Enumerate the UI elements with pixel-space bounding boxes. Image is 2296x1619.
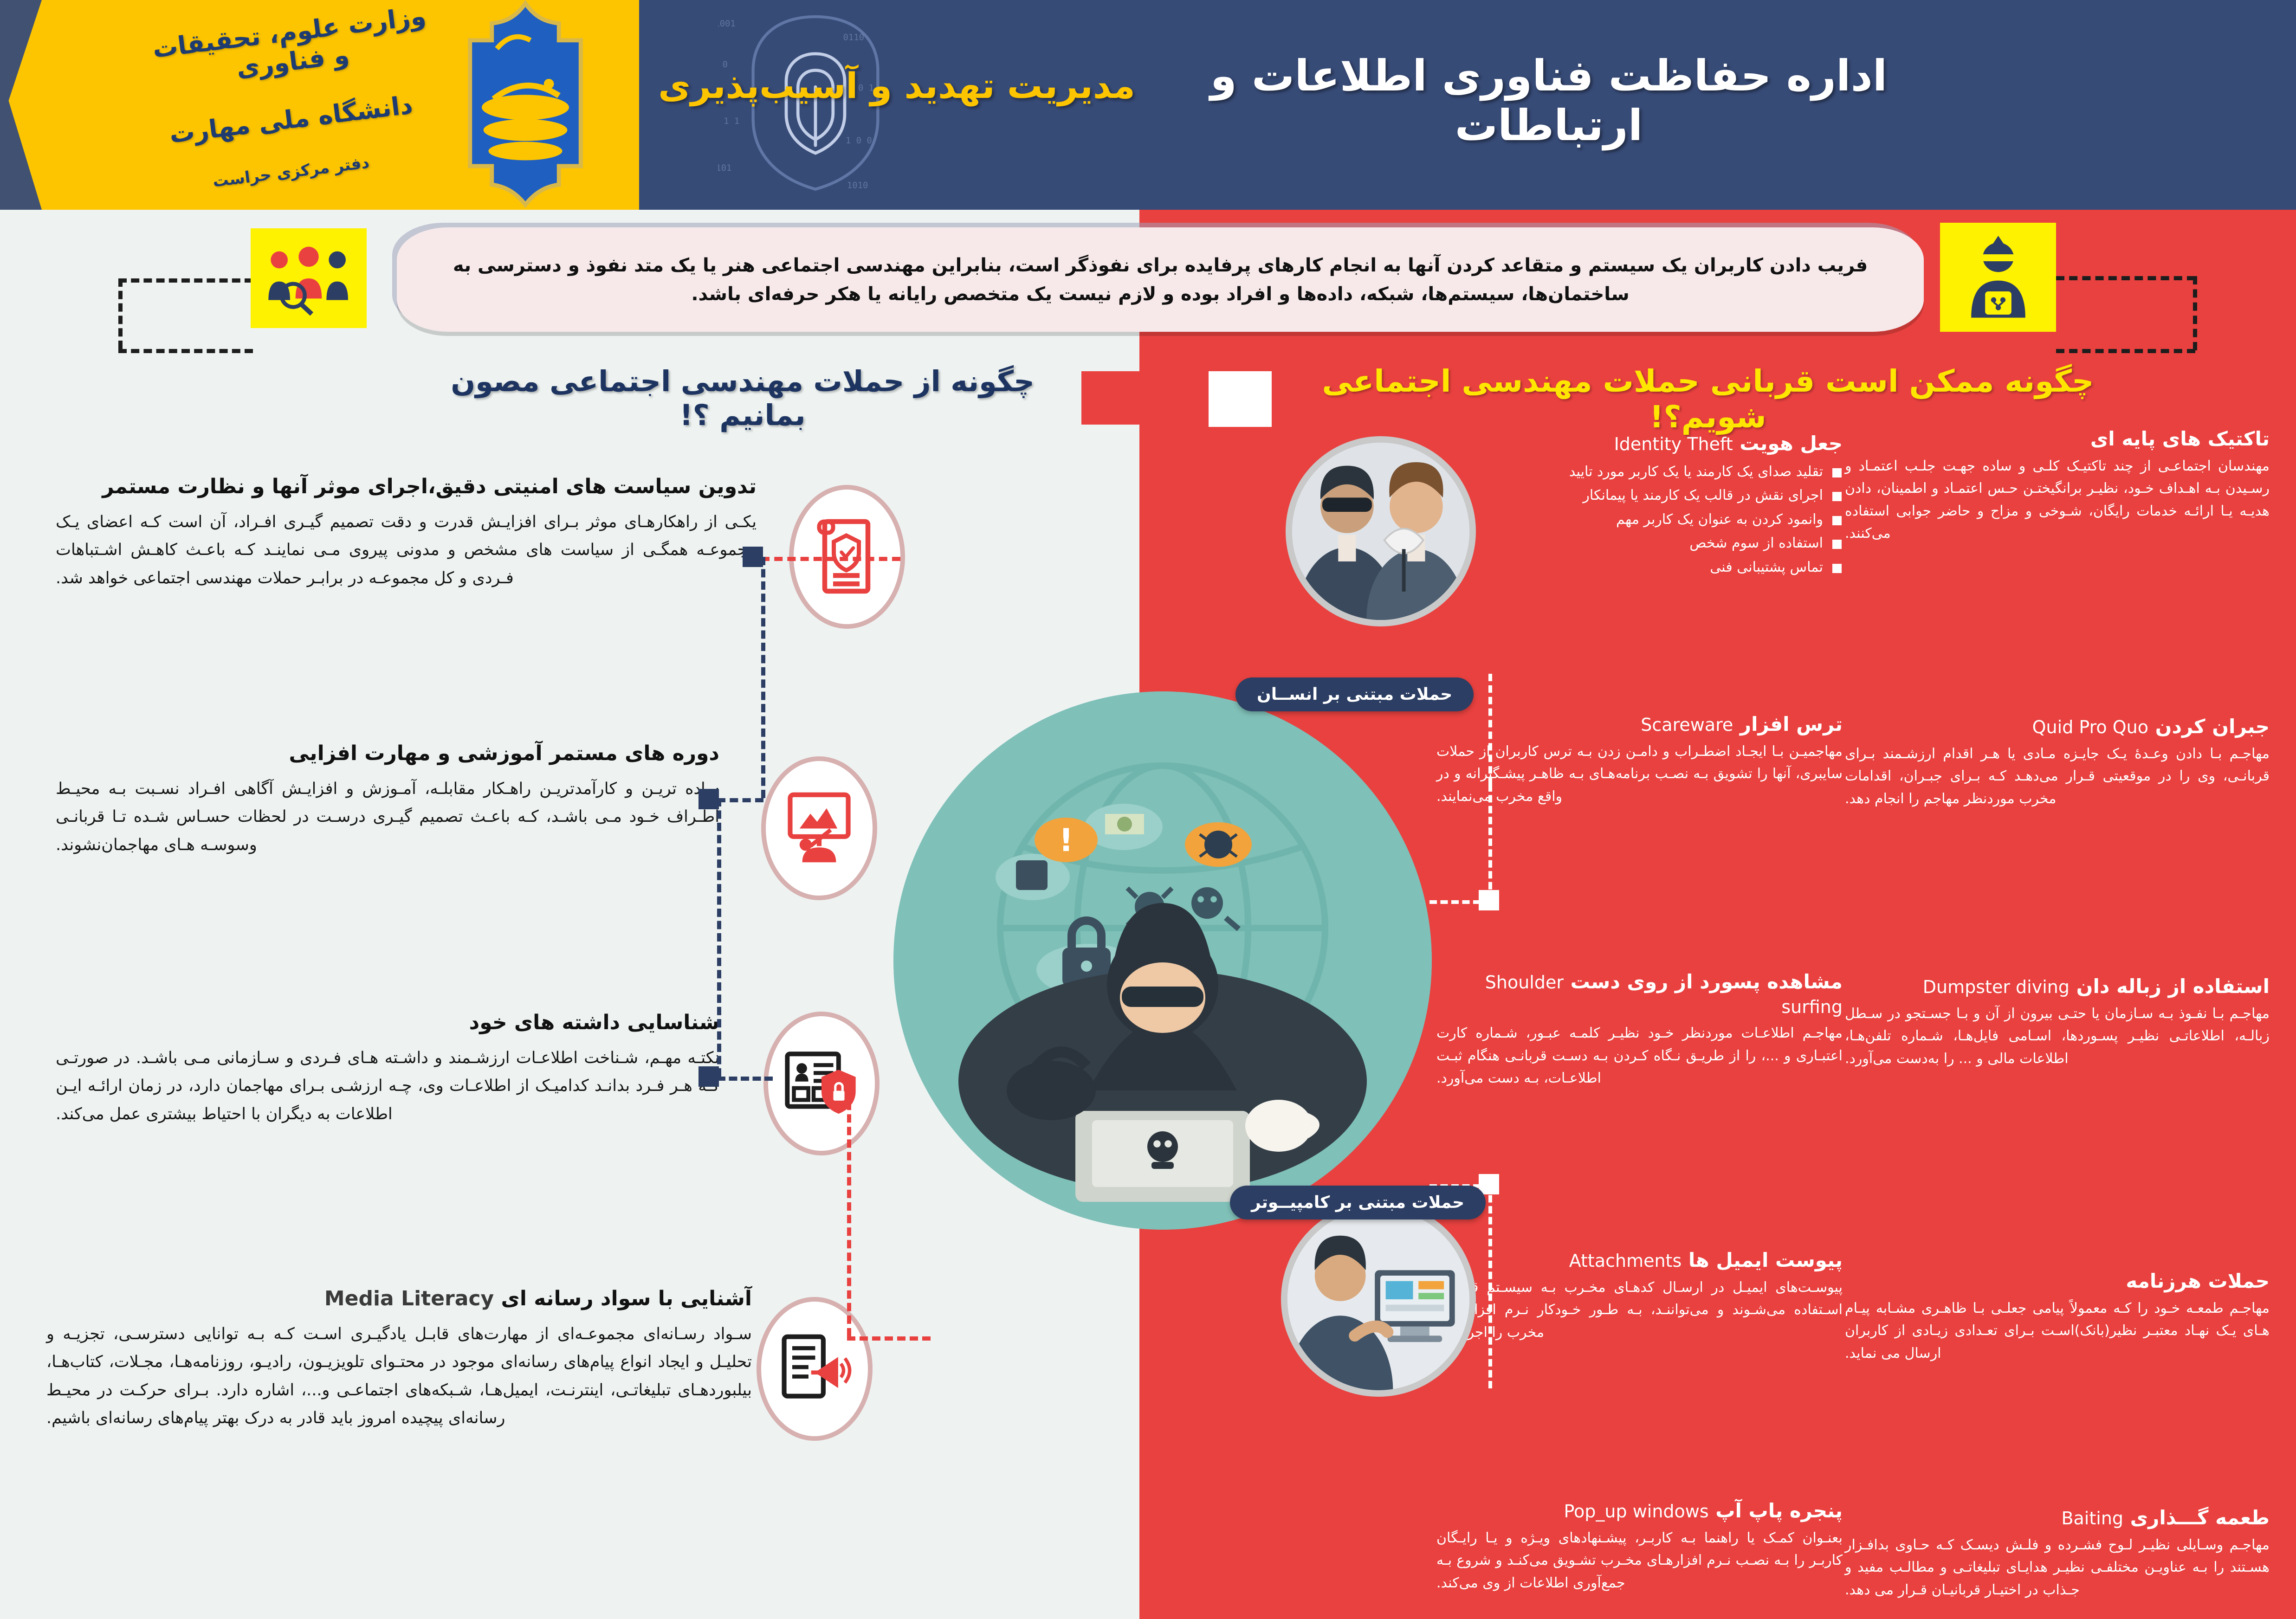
protection-title-text: چگونه از حملات مهندسی اجتماعی مصون بمانی… (404, 364, 1081, 432)
tactic-title-fa: طعمه گـــذاری (2130, 1506, 2270, 1529)
connector-dash (847, 1336, 931, 1341)
university-logo-icon (437, 0, 614, 210)
attack-bullet-list: تقلید صدای یک کارمند یا یک کاربر مورد تا… (1569, 460, 1843, 580)
department-title: اداره حفاظت فناوری اطلاعات و ارتباطات (1154, 51, 1943, 150)
list-item: تقلید صدای یک کارمند یا یک کاربر مورد تا… (1569, 460, 1843, 484)
attack-body: پیوسـت‌های ایمیـل در ارسـال کدهـای مخـرب… (1436, 1277, 1843, 1344)
attack-title-fa: ترس افزار (1740, 713, 1843, 735)
title-tab-accent (1081, 371, 1143, 425)
attacks-section-title: چگونه ممکن است قربانی حملات مهندسی اجتما… (1272, 371, 2144, 427)
tactic-body: مهاجـم وسـایلی نظیـر لـوح فشـرده و فلـش … (1845, 1534, 2270, 1602)
protection-item: آشنایی با سواد رسانه ای Media Literacy س… (46, 1285, 752, 1432)
definition-text: فریب دادن کاربران یک سیستم و متقاعد کردن… (439, 251, 1882, 309)
tactic-title: جبران کردن Quid Pro Quo (1845, 715, 2270, 739)
connector-dash (118, 349, 253, 353)
svg-text:0 0 1: 0 0 1 (846, 135, 872, 146)
attack-title-fa: جعل هویت (1740, 432, 1843, 455)
ministry-line-2: دانشگاه ملی مهارت (142, 87, 440, 152)
page-header: 10010110 0 1 01 0 1 1 1 00 0 1 01011010 … (0, 0, 2296, 210)
attack-title-fa: مشاهده پسورد از روی دست (1571, 970, 1843, 993)
ministry-line-1: وزارت علوم، تحقیقات و فناوری (140, 0, 442, 94)
tactic-title-en: Dumpster diving (1923, 977, 2070, 997)
attack-popup-windows: پنجره پاپ آپ Pop_up windows بعنـوان کمـک… (1436, 1499, 1843, 1594)
attack-title-en: Attachments (1569, 1251, 1682, 1271)
connector-dash (761, 557, 765, 798)
connector-dash (717, 798, 763, 802)
attack-scareware: ترس افزار Scareware مهاجمیـن بـا ایجـاد … (1436, 712, 1843, 808)
protection-item-title: دوره های مستمر آموزشی و مهارت افزایی (56, 740, 719, 767)
attack-title-en: Identity Theft (1614, 434, 1733, 454)
protection-item: دوره های مستمر آموزشی و مهارت افزایی ساد… (56, 740, 719, 859)
tactic-title: حملات هرزنامه (1845, 1269, 2270, 1294)
svg-text:1001: 1001 (718, 19, 736, 29)
tactic-body: مهاجـم بـا نفـوذ بـه سـازمان یا حتـی بیر… (1845, 1003, 2270, 1071)
tactic-baiting: طعمه گـــذاری Baiting مهاجـم وسـایلی نظی… (1845, 1506, 2270, 1601)
hacker-warning-icon (1940, 223, 2056, 332)
svg-text:0101: 0101 (718, 163, 731, 173)
connector-dash (118, 278, 123, 349)
connector-dash (2056, 349, 2195, 353)
protection-item-title: آشنایی با سواد رسانه ای Media Literacy (46, 1285, 752, 1312)
infographic-page: 10010110 0 1 01 0 1 1 1 00 0 1 01011010 … (0, 0, 2296, 1619)
svg-text:1010: 1010 (847, 181, 868, 191)
header-blue-panel: 10010110 0 1 01 0 1 1 1 00 0 1 01011010 … (639, 0, 2296, 210)
connector-dash (1488, 674, 1492, 785)
attack-body: مهاجمیـن بـا ایجـاد اضطـراب و دامـن زدن … (1436, 741, 1843, 808)
svg-text:1 1 0: 1 1 0 (718, 116, 739, 126)
connector-node (699, 789, 719, 809)
tactic-spam-attacks: حملات هرزنامه مهاجـم طمعـه خـود را کـه م… (1845, 1269, 2270, 1365)
connector-node (699, 1066, 719, 1087)
connector-dash (717, 1077, 773, 1081)
list-item: وانمود کردن به عنوان یک کاربر مهم (1569, 508, 1843, 532)
connector-dash (118, 278, 253, 283)
ministry-text-block: وزارت علوم، تحقیقات و فناوری دانشگاه ملی… (142, 18, 440, 181)
connector-dash (1429, 900, 1481, 904)
protection-item-body: ساده تریـن و کارآمدتریـن راهـکار مقابلـه… (56, 775, 719, 859)
tactic-body: مهاجـم بـا دادن وعـدهٔ یـک جایـزه مـادی … (1845, 743, 2270, 811)
tactic-dumpster-diving: استفاده از زباله دان Dumpster diving مها… (1845, 974, 2270, 1070)
header-yellow-panel: وزارت علوم، تحقیقات و فناوری دانشگاه ملی… (0, 0, 639, 210)
list-item: استفاده از سوم شخص (1569, 531, 1843, 555)
tactic-title-en: Baiting (2061, 1508, 2123, 1529)
protection-item: شناسایی داشته های خود نکتـه مهـم، شـناخت… (56, 1009, 719, 1128)
connector-dash (1488, 784, 1492, 900)
protection-item-title: تدوین سیاست های امنیتی دقیق،اجرای موثر آ… (56, 473, 757, 500)
tactic-title-fa: جبران کردن (2155, 715, 2270, 738)
tactic-body: مهندسان اجتماعـی از چند تاکتیـک کلـی و س… (1845, 455, 2270, 545)
badge-computer-based-attacks: حملات مبتنی بر کامپیــوتر (1230, 1186, 1486, 1219)
connector-node (743, 547, 763, 567)
connector-dash (1488, 1184, 1492, 1388)
attacks-title-text: چگونه ممکن است قربانی حملات مهندسی اجتما… (1272, 363, 2144, 435)
attack-title: پنجره پاپ آپ Pop_up windows (1436, 1499, 1843, 1523)
computer-attack-photo (1281, 1202, 1476, 1397)
list-item: اجرای نقش در قالب یک کارمند یا پیمانکار (1569, 484, 1843, 508)
attack-title: مشاهده پسورد از روی دست Shoulder surfing (1436, 970, 1843, 1019)
attack-title: پیوست ایمیل ها Attachments (1436, 1248, 1843, 1273)
id-card-lock-icon (763, 1012, 880, 1155)
svg-text:0110: 0110 (843, 32, 865, 42)
tactic-title-en: Quid Pro Quo (2032, 717, 2148, 737)
protection-item-title-fa: آشنایی با سواد رسانه ای (501, 1287, 752, 1310)
protection-item-title-en: Media Literacy (324, 1287, 494, 1310)
definition-banner: فریب دادن کاربران یک سیستم و متقاعد کردن… (397, 227, 1924, 332)
central-hacker-illustration: ! (893, 691, 1432, 1230)
tactic-title-fa: استفاده از زباله دان (2076, 975, 2270, 998)
tactic-title: استفاده از زباله دان Dumpster diving (1845, 974, 2270, 999)
social-engineering-people-icon (251, 228, 367, 328)
attack-title-fa: پیوست ایمیل ها (1688, 1249, 1843, 1271)
training-presentation-icon (761, 756, 877, 900)
connector-dash (761, 557, 900, 561)
connector-dash (847, 1077, 851, 1336)
attack-title-en: Scareware (1641, 715, 1733, 735)
tactic-basic-tactics: تاکتیک های پایه ای مهندسان اجتماعـی از چ… (1845, 427, 2270, 545)
protection-section-title: چگونه از حملات مهندسی اجتماعی مصون بمانی… (404, 371, 1081, 425)
attack-title-en: Pop_up windows (1564, 1501, 1708, 1522)
list-item: تماس پشتیبانی فنی (1569, 555, 1843, 580)
tactic-quid-pro-quo: جبران کردن Quid Pro Quo مهاجـم بـا دادن … (1845, 715, 2270, 810)
tactic-title: طعمه گـــذاری Baiting (1845, 1506, 2270, 1530)
connector-node (1479, 890, 1499, 910)
connector-dash (2193, 276, 2197, 350)
attack-title-fa: پنجره پاپ آپ (1715, 1499, 1843, 1522)
ministry-line-3: دفتر مرکزی حراست (142, 145, 440, 200)
attack-title: جعل هویت Identity Theft (1569, 432, 1843, 456)
attack-body: بعنـوان کمـک یا راهنما بـه کاربـر، پیشـن… (1436, 1527, 1843, 1595)
title-tab-accent (1209, 371, 1272, 427)
megaphone-media-icon (757, 1297, 873, 1441)
attack-identity-theft: جعل هویت Identity Theft تقلید صدای یک کا… (1569, 432, 1843, 579)
attack-attachments: پیوست ایمیل ها Attachments پیوسـت‌های ای… (1436, 1248, 1843, 1344)
badge-human-based-attacks: حملات مبتنی بر انســان (1235, 677, 1474, 711)
protection-item-body: یکـی از راهکارهـای موثر بـرای افزایـش قد… (56, 508, 757, 592)
connector-dash (717, 798, 721, 1077)
identity-theft-photo (1286, 436, 1476, 626)
attack-title: ترس افزار Scareware (1436, 712, 1843, 737)
attack-shoulder-surfing: مشاهده پسورد از روی دست Shoulder surfing… (1436, 970, 1843, 1090)
protection-item-body: سـواد رسـانه‌ای مجموعـه‌ای از مهارت‌های … (46, 1320, 752, 1432)
attack-body: مهاجـم اطلاعـات موردنظر خـود نظیـر کلمـه… (1436, 1022, 1843, 1090)
protection-item: تدوین سیاست های امنیتی دقیق،اجرای موثر آ… (56, 473, 757, 592)
svg-text:!: ! (1059, 822, 1073, 859)
protection-item-body: نکتـه مهـم، شـناخت اطلاعـات ارزشـمند و د… (56, 1044, 719, 1128)
management-title: مدیریت تهدید و آسیب‌پذیری (653, 65, 1140, 106)
tactic-body: مهاجـم طمعـه خـود را کـه معمولاً پیامی ج… (1845, 1297, 2270, 1365)
connector-dash (2056, 276, 2195, 280)
protection-item-title: شناسایی داشته های خود (56, 1009, 719, 1036)
